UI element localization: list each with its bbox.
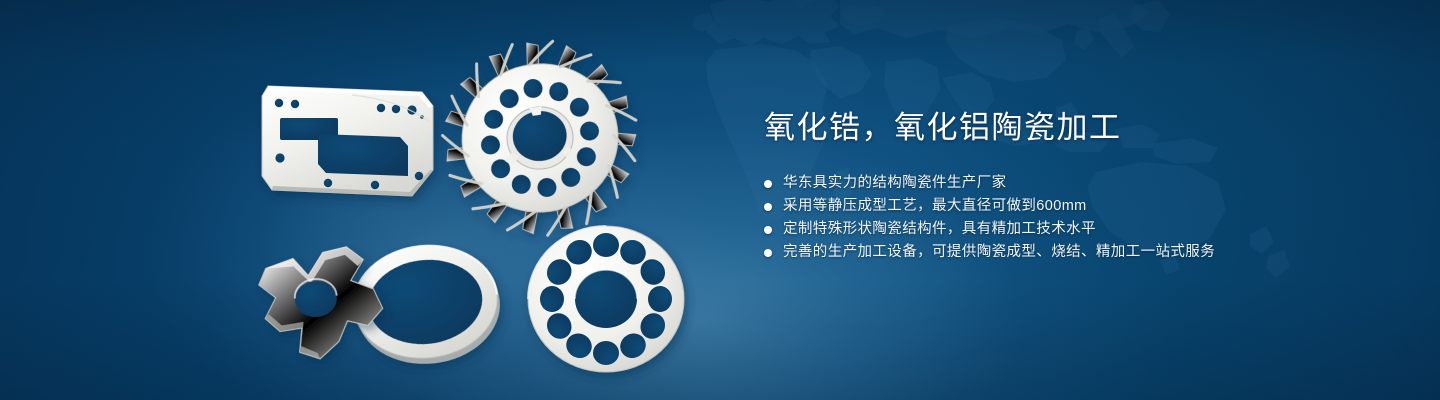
feature-text: 完善的生产加工设备，可提供陶瓷成型、烧结、精加工一站式服务 xyxy=(783,241,1215,264)
list-item: 华东具实力的结构陶瓷件生产厂家 xyxy=(764,172,1384,195)
feature-text: 定制特殊形状陶瓷结构件，具有精加工技术水平 xyxy=(783,218,1096,241)
bullet-dot-icon xyxy=(764,249,772,257)
page-title: 氧化锆，氧化铝陶瓷加工 xyxy=(764,108,1384,148)
bullet-dot-icon xyxy=(764,180,772,188)
feature-text: 采用等静压成型工艺，最大直径可做到600mm xyxy=(783,195,1087,218)
promo-banner: 氧化锆，氧化铝陶瓷加工 华东具实力的结构陶瓷件生产厂家 采用等静压成型工艺，最大… xyxy=(0,0,1440,400)
bullet-dot-icon xyxy=(764,203,772,211)
feature-text: 华东具实力的结构陶瓷件生产厂家 xyxy=(783,172,1007,195)
list-item: 采用等静压成型工艺，最大直径可做到600mm xyxy=(764,195,1384,218)
feature-list: 华东具实力的结构陶瓷件生产厂家 采用等静压成型工艺，最大直径可做到600mm 定… xyxy=(764,172,1384,264)
bullet-dot-icon xyxy=(764,226,772,234)
list-item: 完善的生产加工设备，可提供陶瓷成型、烧结、精加工一站式服务 xyxy=(764,241,1384,264)
list-item: 定制特殊形状陶瓷结构件，具有精加工技术水平 xyxy=(764,218,1384,241)
banner-copy: 氧化锆，氧化铝陶瓷加工 华东具实力的结构陶瓷件生产厂家 采用等静压成型工艺，最大… xyxy=(764,108,1384,264)
